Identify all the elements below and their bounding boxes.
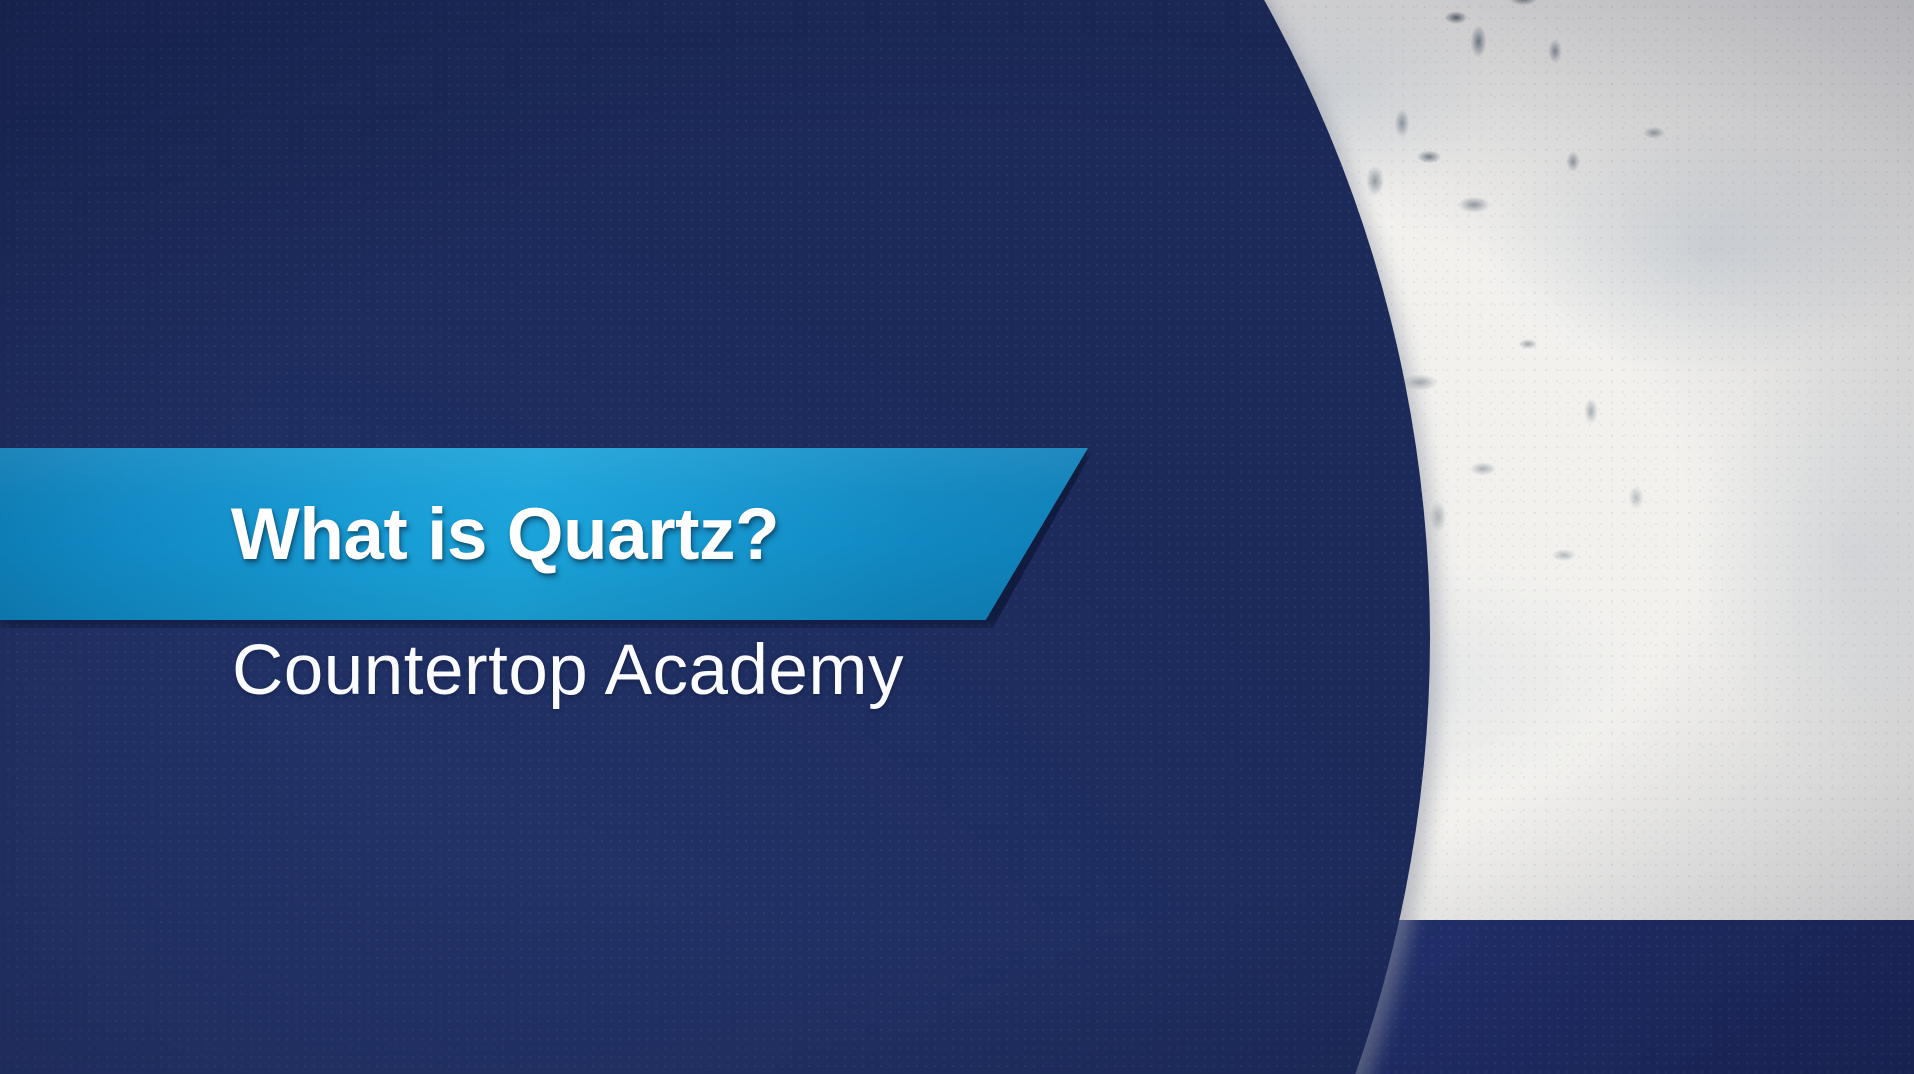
page-subtitle: Countertop Academy: [232, 630, 904, 711]
title-slide: What is Quartz? Countertop Academy: [0, 0, 1914, 1074]
page-title: What is Quartz?: [0, 448, 1010, 620]
